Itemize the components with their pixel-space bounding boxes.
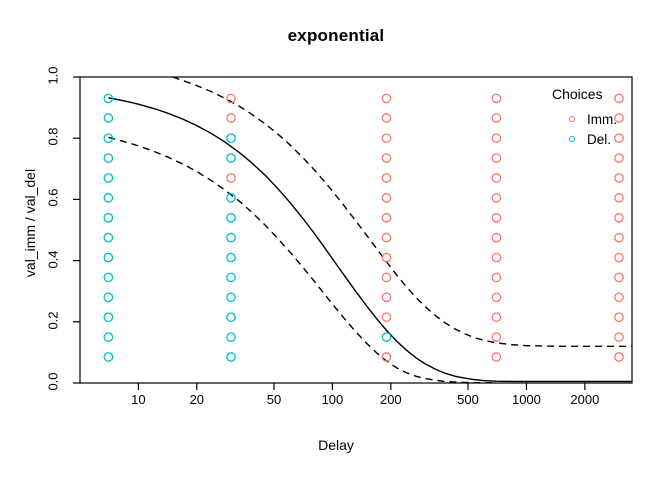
data-point-del <box>104 313 112 321</box>
y-tick-label: 0.8 <box>46 122 61 152</box>
data-point-imm <box>492 174 500 182</box>
data-point-imm <box>492 134 500 142</box>
circle-icon <box>564 116 580 122</box>
data-point-del <box>104 114 112 122</box>
data-point-del <box>227 273 235 281</box>
data-point-del <box>104 273 112 281</box>
data-point-imm <box>492 114 500 122</box>
legend-entries: Imm.Del. <box>552 109 617 149</box>
y-tick-label: 0.0 <box>46 367 61 397</box>
data-point-del <box>104 154 112 162</box>
data-point-imm <box>615 353 623 361</box>
data-point-del <box>104 214 112 222</box>
legend-item: Del. <box>552 129 617 149</box>
plot-canvas <box>0 0 672 480</box>
data-point-imm <box>227 114 235 122</box>
data-point-del <box>227 233 235 241</box>
x-tick-label: 100 <box>322 392 344 407</box>
data-point-imm <box>492 293 500 301</box>
data-point-imm <box>492 353 500 361</box>
data-point-imm <box>492 253 500 261</box>
data-point-imm <box>382 293 390 301</box>
data-point-del <box>227 154 235 162</box>
data-point-imm <box>615 333 623 341</box>
x-tick-label: 500 <box>457 392 479 407</box>
data-point-imm <box>615 174 623 182</box>
x-tick-label: 2000 <box>570 392 599 407</box>
data-point-del <box>382 333 390 341</box>
data-point-del <box>104 233 112 241</box>
data-point-imm <box>382 94 390 102</box>
y-tick-label: 0.2 <box>46 305 61 335</box>
plot-frame <box>80 77 632 383</box>
data-point-del <box>104 333 112 341</box>
data-point-del <box>104 353 112 361</box>
data-point-imm <box>382 154 390 162</box>
chart-root: exponential val_imm / val_del Delay 1020… <box>0 0 672 480</box>
data-point-del <box>227 333 235 341</box>
data-point-imm <box>615 293 623 301</box>
x-tick-label: 20 <box>190 392 204 407</box>
legend-item-label: Imm. <box>587 112 617 127</box>
fit-curve-lower-ci <box>108 137 496 383</box>
data-point-del <box>104 293 112 301</box>
x-tick-label: 1000 <box>512 392 541 407</box>
y-tick-label: 0.6 <box>46 183 61 213</box>
data-point-imm <box>382 134 390 142</box>
data-point-del <box>227 253 235 261</box>
data-point-imm <box>492 233 500 241</box>
data-point-imm <box>492 94 500 102</box>
data-point-imm <box>615 154 623 162</box>
y-tick-label: 1.0 <box>46 61 61 91</box>
data-point-imm <box>615 313 623 321</box>
data-point-imm <box>492 313 500 321</box>
data-point-del <box>227 313 235 321</box>
data-point-imm <box>492 194 500 202</box>
data-point-imm <box>615 273 623 281</box>
data-point-imm <box>615 214 623 222</box>
data-point-imm <box>492 154 500 162</box>
x-tick-label: 200 <box>380 392 402 407</box>
data-point-imm <box>382 313 390 321</box>
data-point-imm <box>615 194 623 202</box>
data-point-imm <box>382 253 390 261</box>
data-point-del <box>104 174 112 182</box>
circle-icon <box>564 136 580 142</box>
y-tick-label: 0.4 <box>46 244 61 274</box>
data-point-imm <box>492 333 500 341</box>
legend: Choices Imm.Del. <box>552 86 617 149</box>
data-point-imm <box>615 233 623 241</box>
x-tick-label: 50 <box>267 392 281 407</box>
x-tick-label: 10 <box>131 392 145 407</box>
data-point-imm <box>382 233 390 241</box>
legend-item-label: Del. <box>587 132 611 147</box>
data-point-imm <box>492 214 500 222</box>
data-point-del <box>227 293 235 301</box>
data-point-imm <box>382 194 390 202</box>
data-point-imm <box>615 253 623 261</box>
data-point-imm <box>227 174 235 182</box>
data-point-imm <box>382 273 390 281</box>
data-point-imm <box>382 214 390 222</box>
data-point-del <box>104 253 112 261</box>
data-point-del <box>227 353 235 361</box>
data-point-imm <box>382 174 390 182</box>
data-point-imm <box>492 273 500 281</box>
data-point-imm <box>382 114 390 122</box>
legend-title: Choices <box>552 86 617 102</box>
data-point-imm <box>382 353 390 361</box>
data-point-del <box>227 134 235 142</box>
data-point-del <box>104 194 112 202</box>
data-point-del <box>227 214 235 222</box>
legend-item: Imm. <box>552 109 617 129</box>
